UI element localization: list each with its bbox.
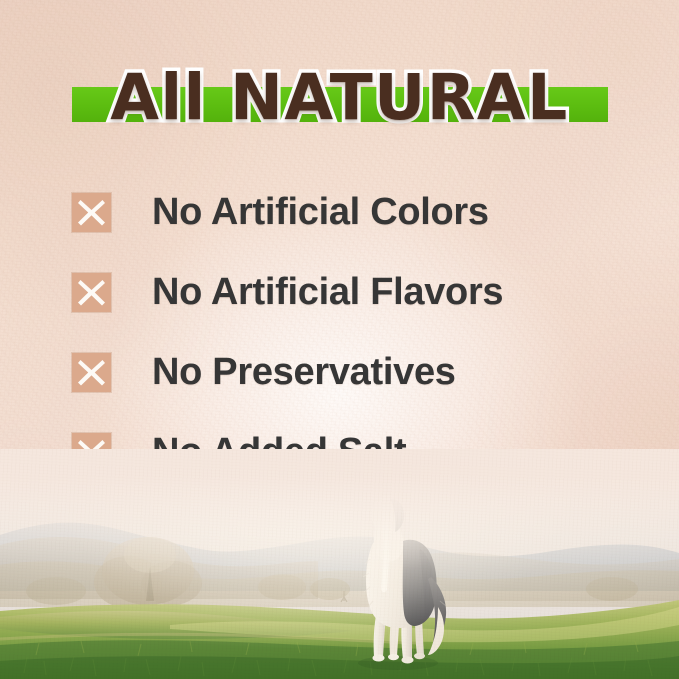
x-mark-icon (72, 273, 111, 312)
x-mark-icon (72, 193, 111, 232)
claim-label: No Artificial Flavors (152, 273, 503, 311)
claim-item-no-artificial-colors: No Artificial Colors (72, 172, 632, 252)
headline-banner: All NATURAL (0, 52, 679, 144)
claim-item-no-preservatives: No Preservatives (72, 332, 632, 412)
claim-label: No Preservatives (152, 353, 456, 391)
claim-label: No Artificial Colors (152, 193, 489, 231)
headline-title: All NATURAL (0, 52, 679, 144)
lifestyle-photo-dog-in-field (0, 449, 679, 679)
claim-item-no-artificial-flavors: No Artificial Flavors (72, 252, 632, 332)
claims-list: No Artificial Colors No Artificial Flavo… (72, 172, 632, 492)
product-feature-card: All NATURAL No Artificial Colors No Arti… (0, 0, 679, 679)
x-mark-icon (72, 353, 111, 392)
